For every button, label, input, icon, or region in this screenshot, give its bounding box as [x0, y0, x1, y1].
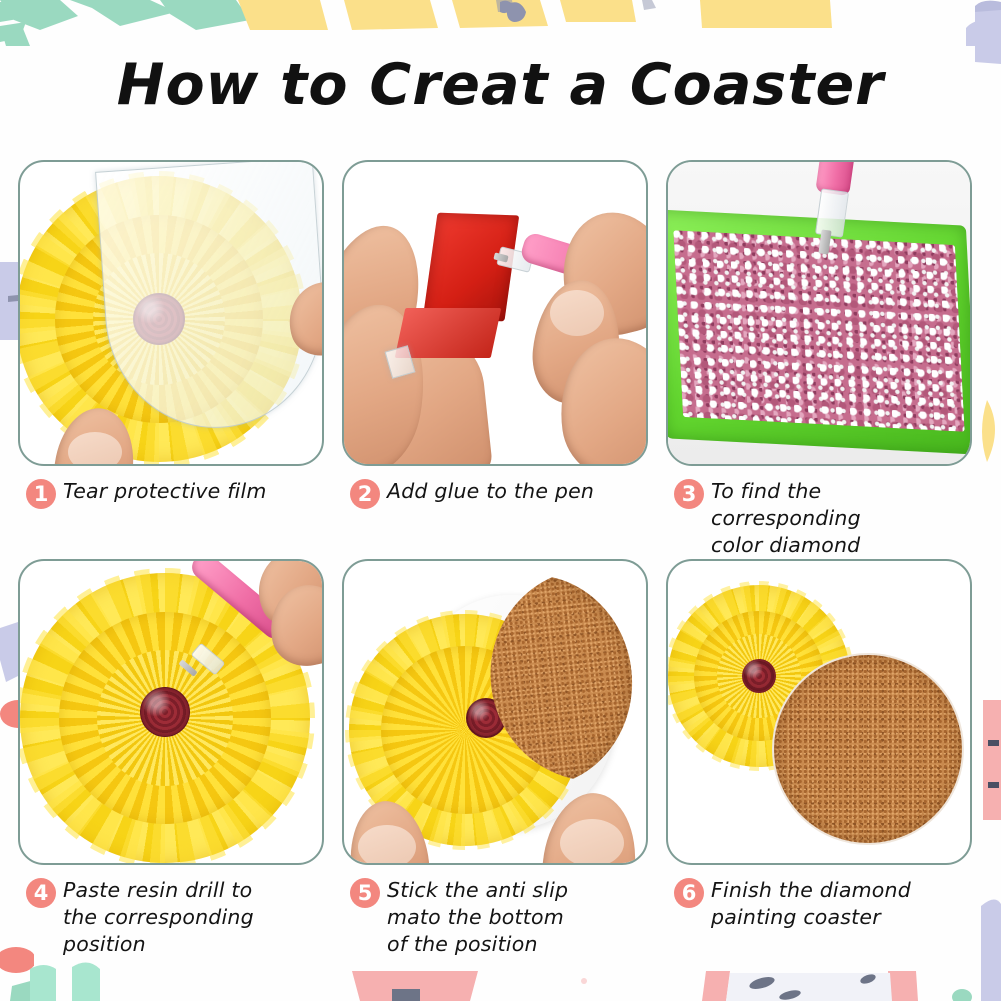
- step-cell-2: 2 Add glue to the pen: [342, 160, 662, 559]
- flower-coaster-icon: [20, 162, 322, 464]
- step-photo-1: [18, 160, 324, 466]
- step-caption-6: 6 Finish the diamond painting coaster: [666, 877, 986, 931]
- steps-grid: 1 Tear protective film: [18, 160, 986, 958]
- decoration-top: [0, 0, 1001, 46]
- drill-tray-icon: [668, 162, 970, 464]
- step-photo-6: [666, 559, 972, 865]
- step-text-6: Finish the diamond painting coaster: [711, 877, 911, 931]
- pen-icon: [20, 561, 322, 863]
- step-text-2: Add glue to the pen: [387, 478, 594, 505]
- step-cell-3: 3 To find the corresponding color diamon…: [666, 160, 986, 559]
- cork-disc: [772, 653, 964, 845]
- glue-block-icon: [344, 162, 646, 464]
- step-caption-1: 1 Tear protective film: [18, 478, 338, 509]
- step-text-5: Stick the anti slip mato the bottom of t…: [387, 877, 568, 958]
- step-photo-2: [342, 160, 648, 466]
- page-title: How to Creat a Coaster: [0, 52, 1001, 118]
- glue-container: [423, 213, 519, 322]
- step-badge-5: 5: [350, 878, 380, 908]
- step-badge-2: 2: [350, 479, 380, 509]
- step-cell-4: 4 Paste resin drill to the corresponding…: [18, 559, 338, 958]
- cork-mat-icon: [344, 561, 646, 863]
- step-photo-4: [18, 559, 324, 865]
- step-badge-6: 6: [674, 878, 704, 908]
- step-caption-4: 4 Paste resin drill to the corresponding…: [18, 877, 338, 958]
- step-text-1: Tear protective film: [63, 478, 267, 505]
- step-photo-5: [342, 559, 648, 865]
- glue-lid: [395, 308, 502, 358]
- step-text-3: To find the corresponding color diamond: [711, 478, 861, 559]
- step-caption-2: 2 Add glue to the pen: [342, 478, 662, 509]
- step-badge-4: 4: [26, 878, 56, 908]
- step-cell-1: 1 Tear protective film: [18, 160, 338, 559]
- diamond-drills: [673, 230, 964, 432]
- finished-coaster-icon: [668, 561, 970, 863]
- step-cell-5: 5 Stick the anti slip mato the bottom of…: [342, 559, 662, 958]
- step-badge-1: 1: [26, 479, 56, 509]
- step-badge-3: 3: [674, 479, 704, 509]
- step-photo-3: [666, 160, 972, 466]
- step-caption-3: 3 To find the corresponding color diamon…: [666, 478, 986, 559]
- step-cell-6: 6 Finish the diamond painting coaster: [666, 559, 986, 958]
- step-caption-5: 5 Stick the anti slip mato the bottom of…: [342, 877, 662, 958]
- poster-page: How to Creat a Coaster: [0, 0, 1001, 1001]
- step-text-4: Paste resin drill to the corresponding p…: [63, 877, 254, 958]
